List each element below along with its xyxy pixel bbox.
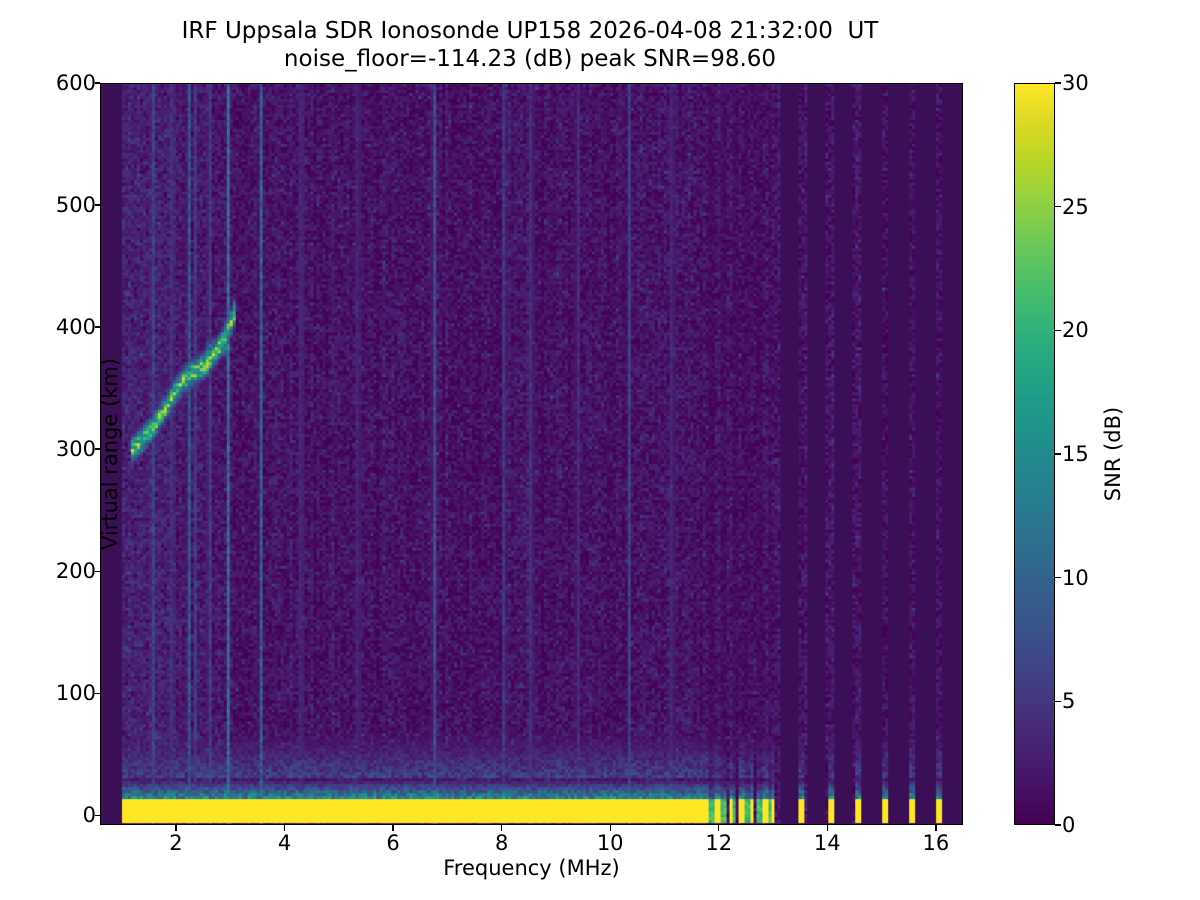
colorbar-tick-mark xyxy=(1055,824,1061,825)
y-tick-label: 400 xyxy=(36,315,96,339)
figure-root: IRF Uppsala SDR Ionosonde UP158 2026-04-… xyxy=(0,0,1200,900)
colorbar-tick-mark xyxy=(1055,206,1061,207)
x-tick-label: 12 xyxy=(705,831,732,855)
colorbar-tick-mark xyxy=(1055,453,1061,454)
x-tick-label: 14 xyxy=(814,831,841,855)
y-tick-label: 200 xyxy=(36,559,96,583)
x-tick-mark xyxy=(284,825,285,831)
y-tick-label: 100 xyxy=(36,681,96,705)
y-axis-label-wrap: Virtual range (km) xyxy=(0,83,40,825)
ionogram-heatmap xyxy=(101,84,962,824)
y-tick-mark xyxy=(95,204,101,205)
colorbar-label-wrap: SNR (dB) xyxy=(1096,83,1126,825)
x-tick-mark xyxy=(827,825,828,831)
title-line-1: IRF Uppsala SDR Ionosonde UP158 2026-04-… xyxy=(0,18,1060,46)
x-tick-mark xyxy=(610,825,611,831)
colorbar-label: SNR (dB) xyxy=(1101,407,1125,501)
x-tick-label: 10 xyxy=(597,831,624,855)
y-tick-mark xyxy=(95,815,101,816)
x-axis-label: Frequency (MHz) xyxy=(100,856,963,880)
x-tick-label: 6 xyxy=(386,831,399,855)
y-tick-mark xyxy=(95,571,101,572)
x-tick-mark xyxy=(175,825,176,831)
colorbar-tick-label: 20 xyxy=(1062,318,1089,342)
y-tick-label: 600 xyxy=(36,71,96,95)
colorbar-tick-label: 5 xyxy=(1062,689,1075,713)
colorbar-gradient xyxy=(1015,84,1054,824)
y-tick-label: 0 xyxy=(36,803,96,827)
colorbar-tick-label: 0 xyxy=(1062,813,1075,837)
x-tick-mark xyxy=(718,825,719,831)
x-tick-mark xyxy=(935,825,936,831)
figure-title: IRF Uppsala SDR Ionosonde UP158 2026-04-… xyxy=(0,18,1060,73)
x-tick-label: 4 xyxy=(278,831,291,855)
x-tick-label: 2 xyxy=(169,831,182,855)
x-tick-label: 8 xyxy=(495,831,508,855)
colorbar-tick-mark xyxy=(1055,82,1061,83)
y-tick-label: 500 xyxy=(36,193,96,217)
ionogram-plot-area[interactable] xyxy=(100,83,963,825)
y-tick-label: 300 xyxy=(36,437,96,461)
y-tick-mark xyxy=(95,82,101,83)
x-tick-mark xyxy=(392,825,393,831)
x-tick-mark xyxy=(501,825,502,831)
y-tick-mark xyxy=(95,693,101,694)
colorbar-tick-label: 10 xyxy=(1062,566,1089,590)
colorbar-tick-label: 30 xyxy=(1062,71,1089,95)
title-line-2: noise_floor=-114.23 (dB) peak SNR=98.60 xyxy=(0,46,1060,74)
colorbar-tick-label: 15 xyxy=(1062,442,1089,466)
y-tick-mark xyxy=(95,326,101,327)
y-tick-mark xyxy=(95,448,101,449)
colorbar-tick-label: 25 xyxy=(1062,195,1089,219)
colorbar-tick-mark xyxy=(1055,701,1061,702)
y-axis-label: Virtual range (km) xyxy=(98,358,122,550)
colorbar-tick-mark xyxy=(1055,577,1061,578)
colorbar-tick-mark xyxy=(1055,330,1061,331)
colorbar[interactable] xyxy=(1014,83,1055,825)
x-tick-label: 16 xyxy=(922,831,949,855)
